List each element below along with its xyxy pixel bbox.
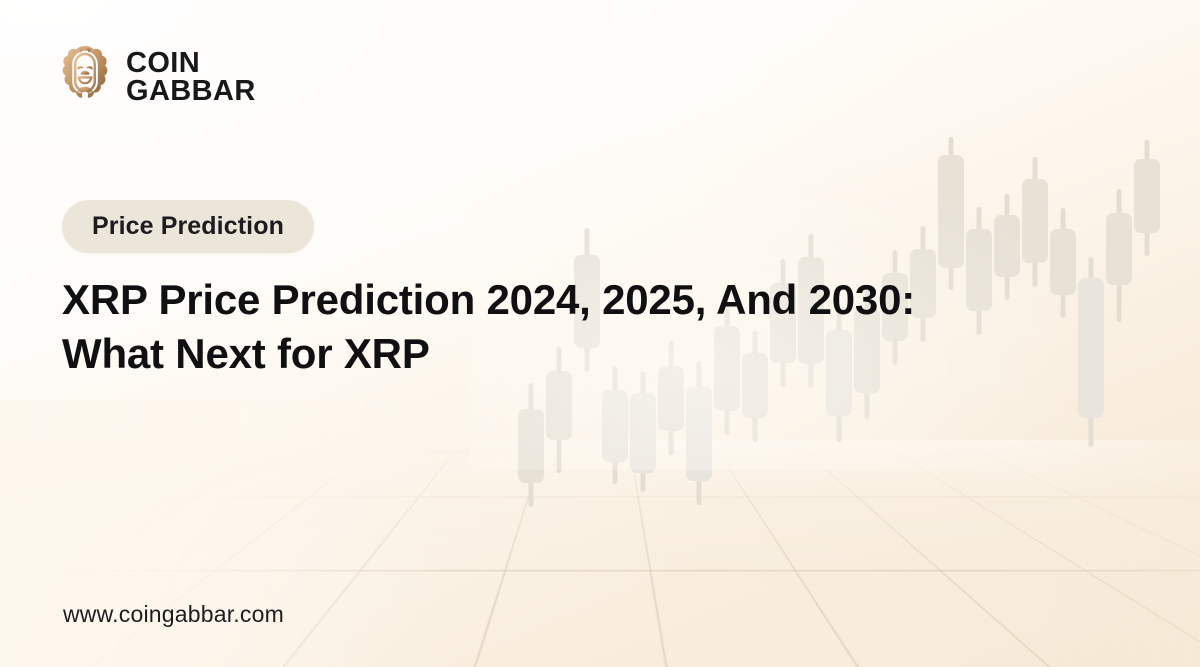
candlestick (1106, 189, 1132, 322)
brand-name-line2: GABBAR (126, 77, 256, 105)
page-title: XRP Price Prediction 2024, 2025, And 203… (62, 273, 1092, 381)
category-badge-label: Price Prediction (92, 212, 284, 241)
candlestick-body (518, 409, 544, 483)
website-url[interactable]: www.coingabbar.com (63, 601, 284, 628)
hero-banner: COIN GABBAR Price Prediction XRP Price P… (0, 0, 1200, 667)
brand-name-line1: COIN (126, 49, 256, 77)
brand-logo[interactable]: COIN GABBAR (58, 44, 256, 110)
candlestick-body (546, 371, 572, 440)
candlestick-body (602, 390, 628, 462)
candlestick (602, 367, 628, 484)
headline-line-1: XRP Price Prediction 2024, 2025, And 203… (62, 273, 1092, 327)
headline-line-2: What Next for XRP (62, 327, 1092, 381)
candlestick-body (1106, 213, 1132, 285)
candlestick-body (1022, 179, 1048, 263)
candlestick-body (938, 155, 964, 268)
website-url-label: www.coingabbar.com (63, 601, 284, 627)
candlestick-body (686, 387, 712, 481)
candlestick (1022, 157, 1048, 287)
lion-head-icon (58, 44, 112, 110)
brand-wordmark: COIN GABBAR (126, 49, 256, 105)
candlestick (630, 371, 656, 492)
candlestick (518, 383, 544, 507)
category-badge[interactable]: Price Prediction (62, 200, 314, 253)
candlestick-body (630, 393, 656, 473)
candlestick (938, 137, 964, 290)
candlestick (686, 361, 712, 505)
candlestick-body (994, 215, 1020, 277)
candlestick-body (1134, 159, 1160, 233)
candlestick (1134, 140, 1160, 256)
